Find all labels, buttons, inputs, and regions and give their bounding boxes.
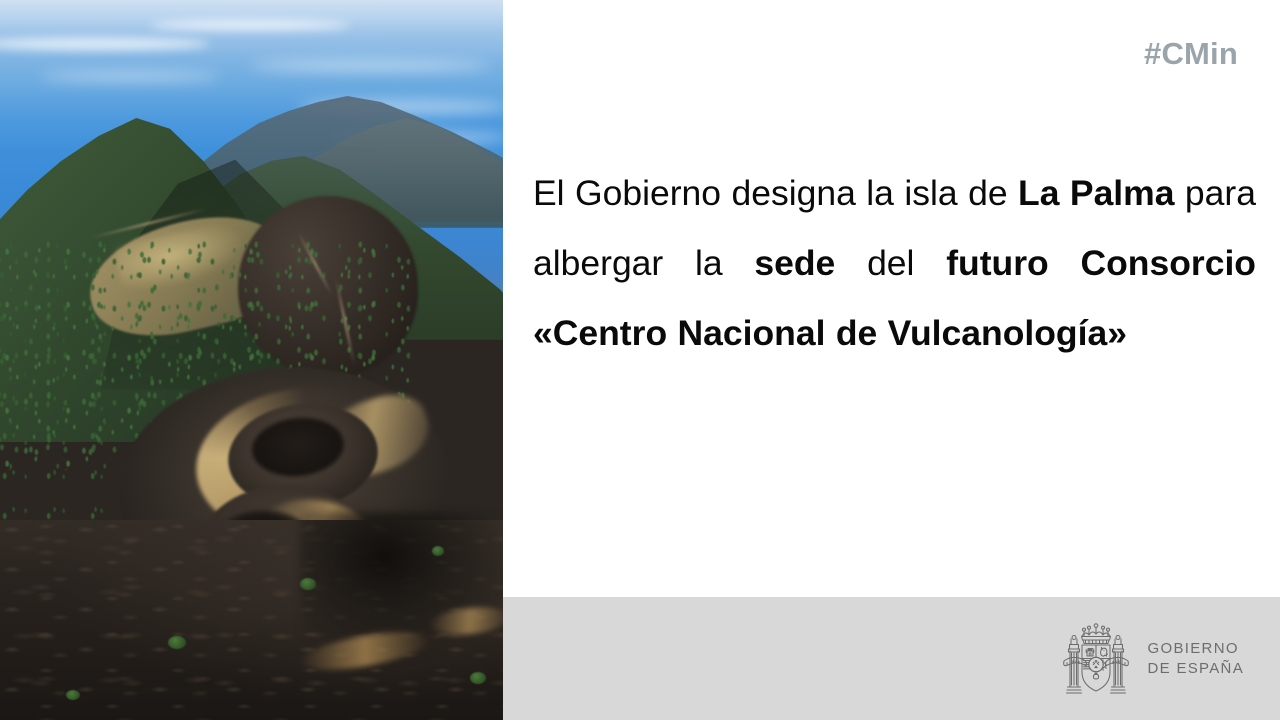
escudo-de-espana-icon bbox=[1058, 617, 1134, 701]
logo-line-de-espana: DE ESPAÑA bbox=[1148, 659, 1244, 679]
vegetation-patch bbox=[66, 690, 80, 700]
logo-line-gobierno: GOBIERNO bbox=[1148, 639, 1244, 659]
vegetation-patch bbox=[470, 672, 486, 684]
logo-text-block: GOBIERNO DE ESPAÑA bbox=[1148, 639, 1244, 679]
vegetation-patch bbox=[432, 546, 444, 556]
slide-root: #CMin El Gobierno designa la isla de La … bbox=[0, 0, 1280, 720]
gobierno-de-espana-logo: GOBIERNO DE ESPAÑA bbox=[1058, 617, 1244, 701]
vegetation-patch bbox=[300, 578, 316, 590]
cloud-band bbox=[40, 72, 220, 81]
volcano-photo bbox=[0, 0, 503, 720]
headline-segment-1: La Palma bbox=[1018, 173, 1174, 213]
page-title: El Gobierno designa la isla de La Palma … bbox=[533, 158, 1256, 368]
footer-band: GOBIERNO DE ESPAÑA bbox=[503, 597, 1280, 720]
cloud-band bbox=[250, 60, 490, 71]
cloud-band bbox=[150, 20, 350, 30]
vegetation-patch bbox=[168, 636, 186, 649]
headline-segment-3: sede bbox=[754, 243, 835, 283]
headline-segment-0: El Gobierno designa la isla de bbox=[533, 173, 1018, 213]
hashtag-label: #CMin bbox=[1144, 36, 1238, 72]
headline-segment-4: del bbox=[835, 243, 946, 283]
